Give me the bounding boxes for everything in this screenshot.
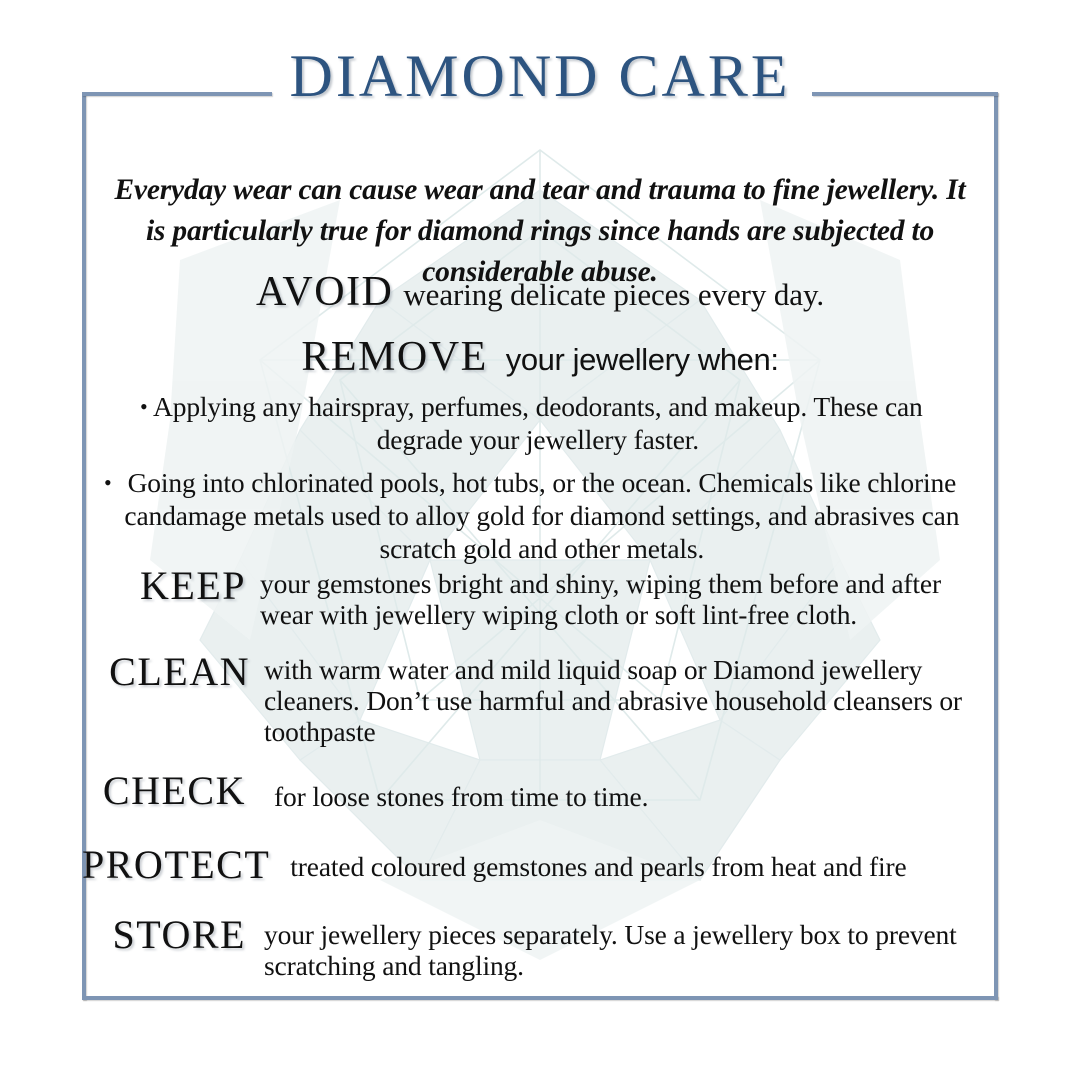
- section-protect: PROTECT treated coloured gemstones and p…: [82, 843, 998, 887]
- remove-keyword: REMOVE: [301, 334, 487, 380]
- bullet-marker-icon: •: [104, 466, 116, 499]
- avoid-keyword: AVOID: [256, 269, 393, 315]
- care-sections: KEEP your gemstones bright and shiny, wi…: [82, 564, 998, 987]
- list-item-text: Going into chlorinated pools, hot tubs, …: [116, 466, 968, 565]
- avoid-text: wearing delicate pieces every day.: [403, 277, 824, 312]
- section-text-store: your jewellery pieces separately. Use a …: [260, 913, 998, 981]
- section-text-check: for loose stones from time to time.: [260, 769, 998, 812]
- section-store: STORE your jewellery pieces separately. …: [82, 913, 998, 981]
- title-container: DIAMOND CARE: [82, 44, 998, 108]
- remove-row: REMOVEyour jewellery when:: [82, 333, 998, 381]
- section-keep: KEEP your gemstones bright and shiny, wi…: [82, 564, 998, 630]
- poster-content: DIAMOND CARE Everyday wear can cause wea…: [82, 92, 998, 1000]
- section-keyword-keep: KEEP: [82, 564, 260, 608]
- section-keyword-store: STORE: [82, 913, 260, 957]
- section-check: CHECK for loose stones from time to time…: [82, 769, 998, 813]
- section-clean: CLEAN with warm water and mild liquid so…: [82, 650, 998, 747]
- page-title: DIAMOND CARE: [278, 44, 803, 108]
- section-keyword-protect: PROTECT: [82, 843, 284, 887]
- diamond-care-poster: DIAMOND CARE Everyday wear can cause wea…: [0, 0, 1080, 1080]
- list-item-text: Applying any hairspray, perfumes, deodor…: [152, 390, 930, 456]
- remove-text: your jewellery when:: [506, 342, 779, 377]
- list-item: • Applying any hairspray, perfumes, deod…: [102, 390, 978, 456]
- section-text-clean: with warm water and mild liquid soap or …: [264, 650, 998, 747]
- section-text-protect: treated coloured gemstones and pearls fr…: [284, 843, 998, 882]
- avoid-row: AVOIDwearing delicate pieces every day.: [82, 268, 998, 316]
- bullet-marker-icon: •: [140, 390, 152, 423]
- section-keyword-check: CHECK: [82, 769, 260, 813]
- list-item: • Going into chlorinated pools, hot tubs…: [102, 466, 978, 565]
- section-keyword-clean: CLEAN: [82, 650, 264, 694]
- section-text-keep: your gemstones bright and shiny, wiping …: [260, 564, 998, 630]
- remove-bullet-list: • Applying any hairspray, perfumes, deod…: [102, 390, 978, 575]
